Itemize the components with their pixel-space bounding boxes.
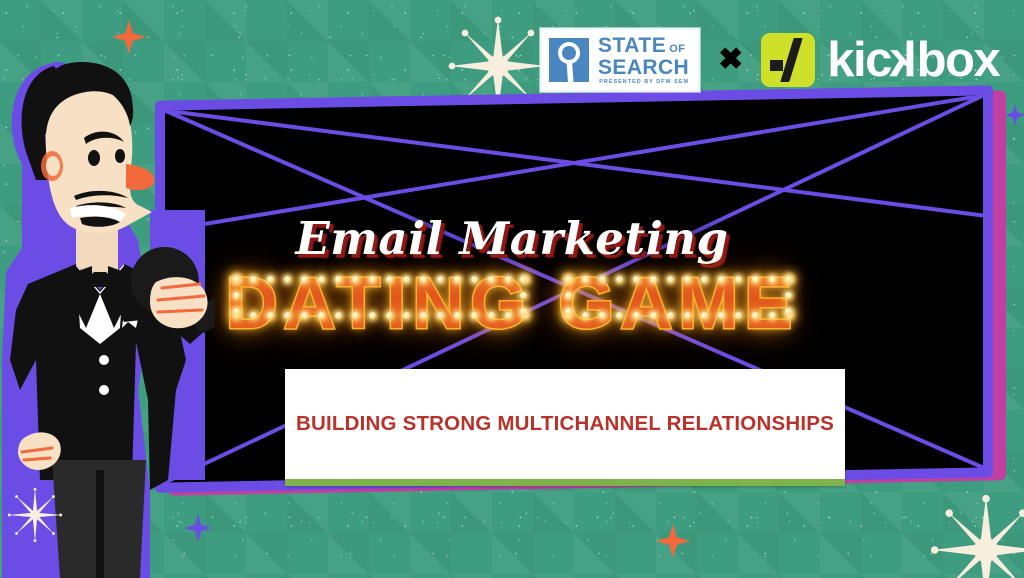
state-of-search-wordmark: STATE OF SEARCH PRESENTED BY DFW SEM xyxy=(598,35,689,85)
marquee-game-text: GAME xyxy=(558,264,798,344)
kickbox-reversed-k: k xyxy=(891,36,917,85)
game-show-host-illustration xyxy=(0,60,215,578)
marquee-dating-text: DATING xyxy=(226,264,533,344)
marquee-word-game: GAME xyxy=(558,263,798,345)
magnifier-square-icon xyxy=(549,38,589,82)
sos-tagline: PRESENTED BY DFW SEM xyxy=(598,80,689,85)
subtitle-banner: BUILDING STRONG MULTICHANNEL RELATIONSHI… xyxy=(285,369,845,486)
sos-line-1: STATE OF xyxy=(598,35,689,56)
dot-slash-icon xyxy=(761,33,815,87)
kickbox-logo[interactable]: kickbox xyxy=(761,33,999,87)
logo-lockup: STATE OF SEARCH PRESENTED BY DFW SEM ✖ k… xyxy=(540,28,999,92)
kickbox-slash xyxy=(780,38,802,82)
marquee-word-dating: DATING xyxy=(226,263,533,345)
subtitle-text: BUILDING STRONG MULTICHANNEL RELATIONSHI… xyxy=(296,412,834,436)
sos-search-text: SEARCH xyxy=(598,57,689,78)
collab-x-icon: ✖ xyxy=(718,45,743,75)
kickbox-dot xyxy=(770,60,783,71)
kickbox-part-b: box xyxy=(917,36,1000,85)
slide-canvas: STATE OF SEARCH PRESENTED BY DFW SEM ✖ k… xyxy=(0,0,1024,578)
sos-of-text: OF xyxy=(669,44,685,55)
sos-state-text: STATE xyxy=(598,35,666,56)
state-of-search-logo[interactable]: STATE OF SEARCH PRESENTED BY DFW SEM xyxy=(540,28,700,92)
kickbox-part-a: kic xyxy=(827,36,891,85)
kickbox-wordmark: kickbox xyxy=(827,36,999,85)
